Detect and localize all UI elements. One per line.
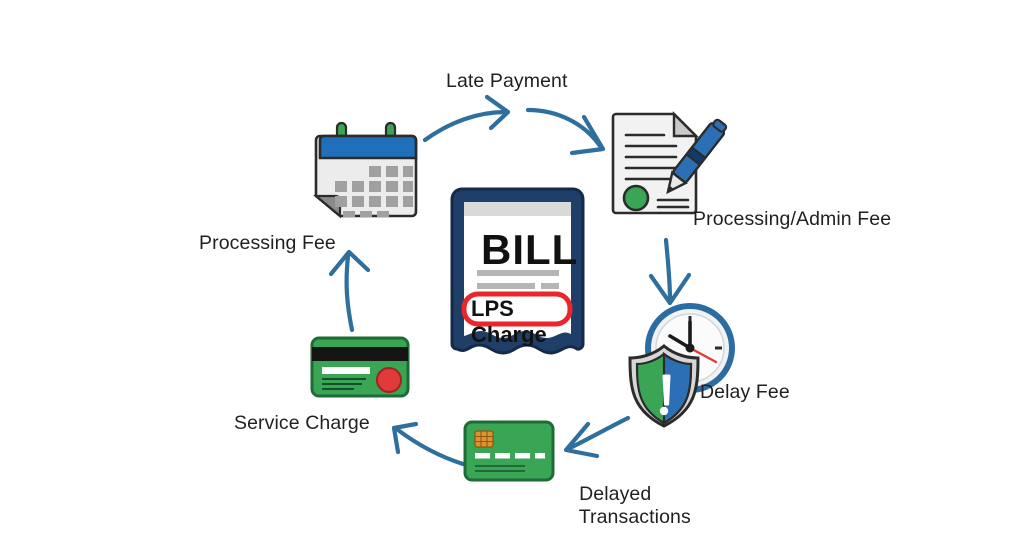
credit-card-chip-icon xyxy=(463,420,555,482)
calendar-label: Processing Fee xyxy=(199,232,336,255)
clock-shield-label: Delay Fee xyxy=(700,381,790,404)
bill-highlight-charge: LPS Charge xyxy=(471,296,588,348)
arrow-stripecard-to-calendar xyxy=(331,252,368,330)
document-pen-icon xyxy=(608,108,718,218)
chip-card-label-line2: Transactions xyxy=(557,483,691,552)
stripe-card-label: Service Charge xyxy=(234,412,370,435)
arrow-late-to-document xyxy=(528,110,603,153)
document-label: Processing/Admin Fee xyxy=(693,208,891,231)
credit-card-stripe-icon xyxy=(310,336,410,398)
arrow-clock-to-chipcard xyxy=(566,418,628,456)
bill-receipt: BILL LPS Charge xyxy=(447,186,588,358)
late-payment-label: Late Payment xyxy=(446,70,568,93)
arrow-chipcard-to-stripecard xyxy=(394,424,463,464)
calendar-icon xyxy=(310,120,422,232)
arrow-document-to-clock xyxy=(651,240,689,303)
diagram-canvas: Late Payment Processing Fee xyxy=(0,0,1024,559)
arrow-calendar-to-late xyxy=(425,97,508,140)
bill-title: BILL xyxy=(481,226,578,274)
chip-card-label-text-2: Transactions xyxy=(579,506,691,528)
